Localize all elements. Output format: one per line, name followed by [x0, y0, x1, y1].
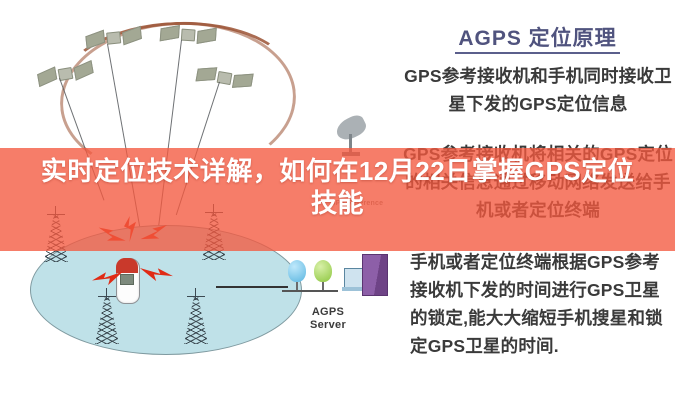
satellite-panel-left — [195, 67, 217, 81]
agps-server-icon — [282, 254, 392, 302]
headline-text: 实时定位技术详解，如何在12月22日掌握GPS定位技能 — [0, 155, 675, 219]
agps-server-label-line2: Server — [288, 319, 368, 332]
satellite-icon — [159, 23, 217, 53]
satellite-panel-left — [37, 66, 57, 87]
node-stem — [322, 282, 324, 290]
explanation-step-1: GPS参考接收机和手机同时接收卫星下发的GPS定位信息 — [402, 62, 674, 118]
cell-tower-icon — [184, 288, 208, 344]
satellite-panel-right — [74, 60, 94, 81]
satellite-panel-left — [85, 30, 105, 50]
node-stem — [296, 282, 298, 290]
satellite-body — [106, 31, 121, 44]
backhaul-link-line — [216, 286, 288, 288]
phone-screen — [120, 274, 134, 285]
diagram-title: AGPS 定位原理 — [400, 22, 675, 52]
satellite-panel-right — [122, 26, 142, 46]
screenshot-canvas: GPS Reference — [0, 0, 675, 400]
server-rack-icon — [362, 254, 388, 296]
agps-server-label: AGPS Server — [288, 306, 368, 332]
explanation-step-3: 手机或者定位终端根据GPS参考接收机下发的时间进行GPS卫星的锁定,能大大缩短手… — [410, 248, 672, 360]
network-node-icon — [288, 260, 306, 282]
agps-server-label-line1: AGPS — [288, 306, 368, 319]
server-ground-line — [282, 290, 338, 292]
network-node-icon — [314, 260, 332, 282]
satellite-panel-right — [232, 74, 254, 88]
mobile-phone-icon — [116, 258, 140, 304]
tower-mast — [184, 296, 208, 344]
diagram-title-text: AGPS 定位原理 — [455, 27, 619, 54]
satellite-body — [181, 29, 196, 42]
satellite-panel-right — [197, 28, 217, 44]
phone-top — [116, 258, 138, 273]
tower-mast — [95, 296, 119, 344]
satellite-panel-left — [160, 25, 180, 41]
